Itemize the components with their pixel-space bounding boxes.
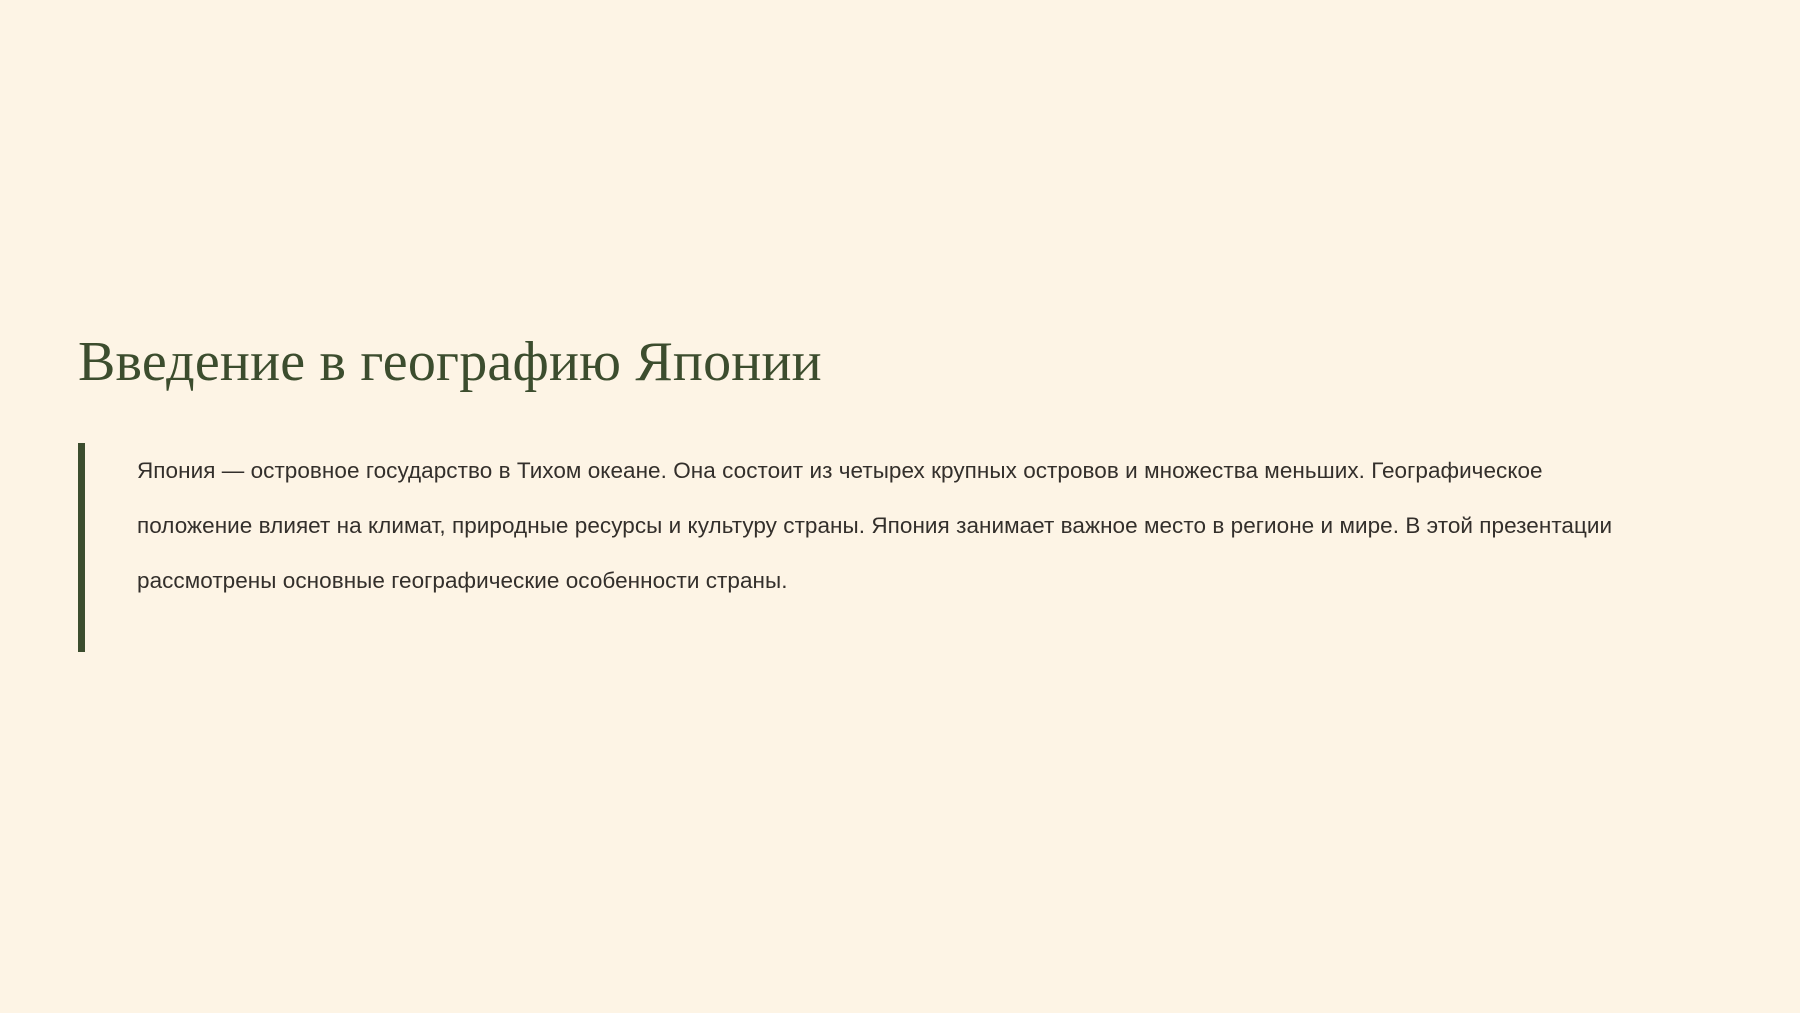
body-paragraph: Япония — островное государство в Тихом о… [137, 443, 1647, 608]
slide-title: Введение в географию Японии [78, 330, 1678, 395]
body-callout-block: Япония — островное государство в Тихом о… [78, 443, 1678, 652]
accent-bar [78, 443, 85, 652]
slide-content: Введение в географию Японии Япония — ост… [78, 330, 1678, 652]
slide-canvas: Введение в географию Японии Япония — ост… [0, 0, 1800, 1013]
